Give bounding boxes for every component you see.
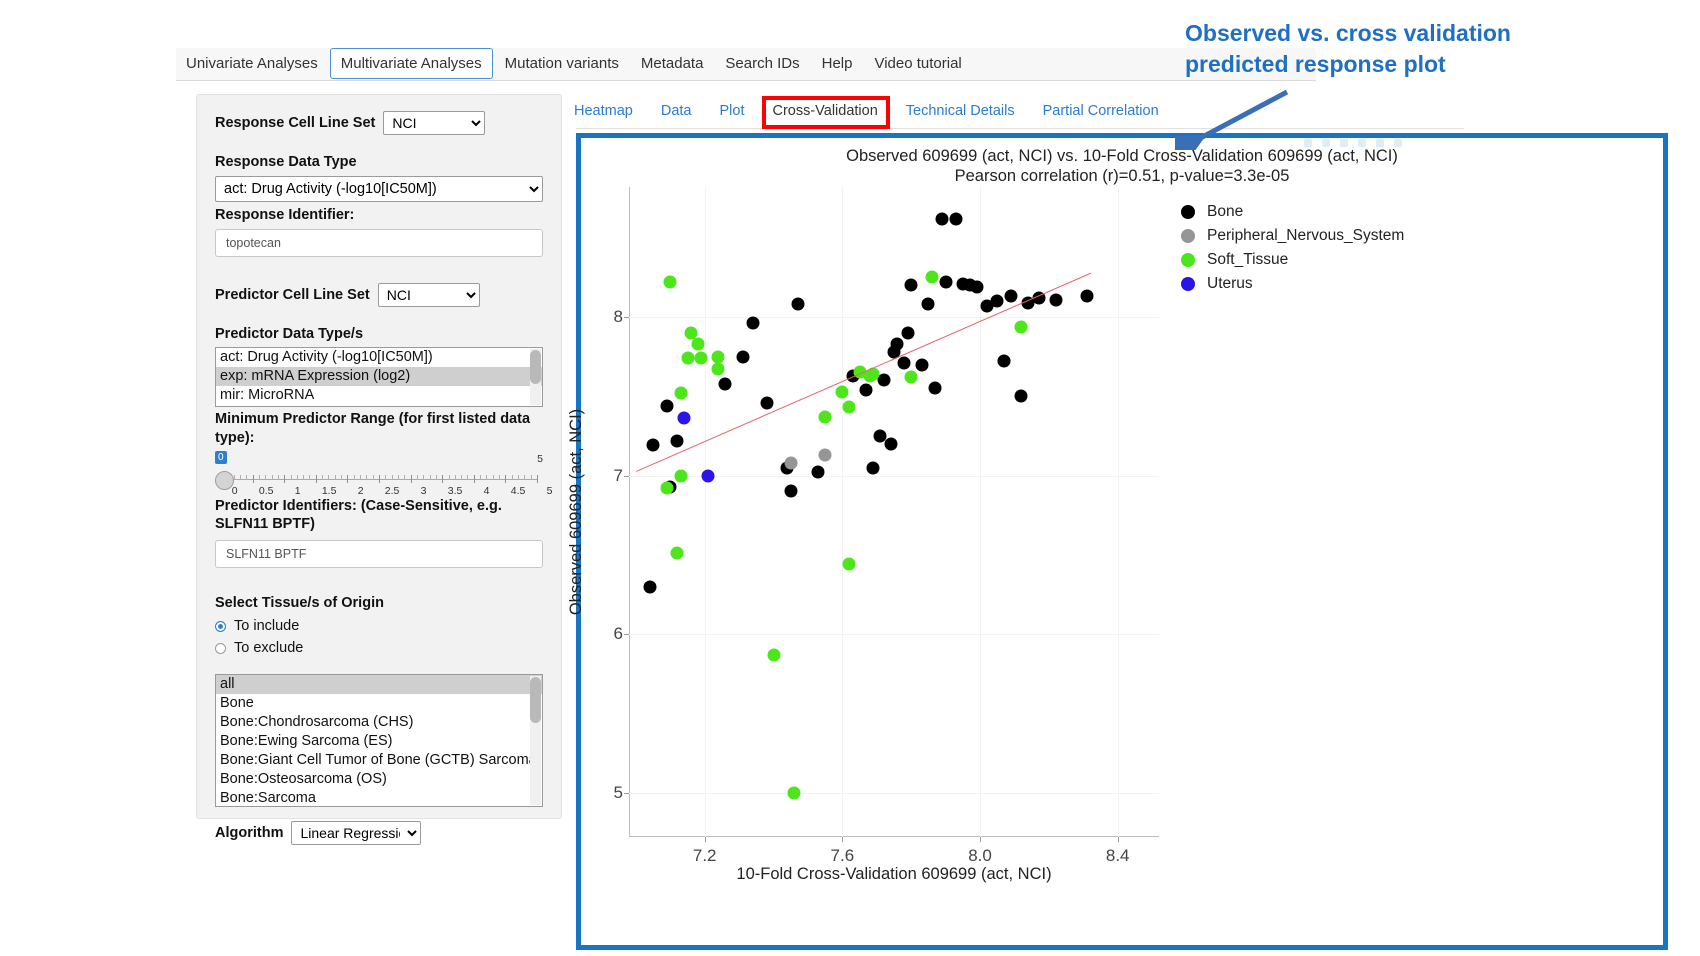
scatter-point-soft_tissue[interactable] <box>905 371 918 384</box>
subtab-plot[interactable]: Plot <box>705 98 758 124</box>
scatter-point-soft_tissue[interactable] <box>836 385 849 398</box>
legend-marker-icon <box>1181 277 1195 291</box>
x-axis-tick-label: 7.6 <box>831 846 855 866</box>
scatter-point-soft_tissue[interactable] <box>925 271 938 284</box>
x-axis-tick-mark <box>980 837 981 842</box>
scatter-point-bone[interactable] <box>719 377 732 390</box>
nav-item-mutation-variants[interactable]: Mutation variants <box>495 49 629 78</box>
scatter-point-uterus[interactable] <box>702 469 715 482</box>
y-axis-tick-label: 5 <box>614 783 623 803</box>
slider-tick-label: 2 <box>358 485 364 497</box>
algorithm-select[interactable]: Linear Regression <box>291 821 421 845</box>
y-axis-tick-mark <box>624 476 629 477</box>
nav-item-help[interactable]: Help <box>812 49 863 78</box>
y-axis-label: Observed 609699 (act, NCI) <box>567 409 586 615</box>
y-axis-tick-mark <box>624 793 629 794</box>
scatter-point-bone[interactable] <box>901 326 914 339</box>
x-axis-tick-mark <box>1118 837 1119 842</box>
y-axis-tick-mark <box>624 634 629 635</box>
plot-title-line1: Observed 609699 (act, NCI) vs. 10-Fold C… <box>581 146 1663 166</box>
slider-value-bubble: 0 <box>215 451 227 464</box>
scatter-point-bone[interactable] <box>1049 293 1062 306</box>
scatter-point-soft_tissue[interactable] <box>1015 320 1028 333</box>
slider-tick-label: 4 <box>484 485 490 497</box>
scatter-point-bone[interactable] <box>791 298 804 311</box>
x-axis-label: 10-Fold Cross-Validation 609699 (act, NC… <box>629 865 1159 884</box>
slider-tick-label: 5 <box>547 485 553 497</box>
y-axis-tick-label: 7 <box>614 466 623 486</box>
legend-marker-icon <box>1181 253 1195 267</box>
scatter-point-bone[interactable] <box>860 383 873 396</box>
tissue-option[interactable]: Bone:Giant Cell Tumor of Bone (GCTB) Sar… <box>216 751 542 770</box>
min-predictor-range-label: Minimum Predictor Range (for first liste… <box>215 410 543 446</box>
slider-tick-label: 0 <box>232 485 238 497</box>
scatter-point-bone[interactable] <box>812 466 825 479</box>
tissue-scroll-thumb[interactable] <box>530 677 541 723</box>
scatter-point-soft_tissue[interactable] <box>691 337 704 350</box>
scatter-point-peripheral_nervous_system[interactable] <box>784 456 797 469</box>
predictor-data-type-option[interactable]: exp: mRNA Expression (log2) <box>216 367 542 386</box>
scatter-point-bone[interactable] <box>998 355 1011 368</box>
annotation-arrow-icon <box>1175 88 1295 150</box>
grid-line-vertical <box>1118 187 1119 837</box>
scatter-point-soft_tissue[interactable] <box>681 352 694 365</box>
scatter-point-bone[interactable] <box>736 350 749 363</box>
predictor-data-type-option[interactable]: mth: DNA 850K Methylation <box>216 405 542 407</box>
controls-sidebar: Response Cell Line Set NCI Response Data… <box>196 94 562 819</box>
tissue-option[interactable]: Bone <box>216 694 542 713</box>
predictor-identifiers-input[interactable] <box>215 540 543 568</box>
slider-ticks <box>221 475 537 483</box>
slider-tick-label: 2.5 <box>385 485 400 497</box>
scatter-point-bone[interactable] <box>784 485 797 498</box>
response-data-type-label: Response Data Type <box>215 153 543 171</box>
slider-tick-label: 1.5 <box>322 485 337 497</box>
slider-max-label: 5 <box>537 453 543 465</box>
plot-modebar[interactable] <box>1300 136 1420 150</box>
slider-tick-label: 1 <box>295 485 301 497</box>
scatter-point-uterus[interactable] <box>678 412 691 425</box>
response-identifier-label: Response Identifier: <box>215 206 543 224</box>
x-axis-tick-label: 7.2 <box>693 846 717 866</box>
scatter-point-bone[interactable] <box>936 212 949 225</box>
scatter-point-bone[interactable] <box>867 461 880 474</box>
scatter-point-bone[interactable] <box>647 439 660 452</box>
min-predictor-range-slider[interactable]: 0 5 00.511.522.533.544.55 <box>215 451 543 497</box>
legend-label: Peripheral_Nervous_System <box>1207 227 1404 245</box>
scatter-point-soft_tissue[interactable] <box>767 648 780 661</box>
cross-validation-plot-panel: Observed 609699 (act, NCI) vs. 10-Fold C… <box>576 133 1668 950</box>
tissue-option[interactable]: all <box>216 675 542 694</box>
predictor-cell-line-set-label: Predictor Cell Line Set <box>215 286 370 304</box>
predictor-cell-line-set-row: Predictor Cell Line Set NCI <box>215 283 543 307</box>
y-axis-tick-label: 6 <box>614 624 623 644</box>
plot-legend: BonePeripheral_Nervous_SystemSoft_Tissue… <box>1181 200 1404 296</box>
legend-marker-icon <box>1181 205 1195 219</box>
legend-item[interactable]: Bone <box>1181 200 1404 224</box>
radio-exclude-icon[interactable] <box>215 643 226 654</box>
plot-title: Observed 609699 (act, NCI) vs. 10-Fold C… <box>581 146 1663 186</box>
x-axis-tick-mark <box>842 837 843 842</box>
algorithm-label: Algorithm <box>215 824 283 842</box>
scatter-point-bone[interactable] <box>929 382 942 395</box>
legend-item[interactable]: Soft_Tissue <box>1181 248 1404 272</box>
plot-title-line2: Pearson correlation (r)=0.51, p-value=3.… <box>581 166 1663 186</box>
tissue-option[interactable]: Bone:Chondrosarcoma (CHS) <box>216 713 542 732</box>
nav-item-search-ids[interactable]: Search IDs <box>715 49 809 78</box>
predictor-identifiers-label: Predictor Identifiers: (Case-Sensitive, … <box>215 497 543 533</box>
scatter-point-bone[interactable] <box>660 399 673 412</box>
scatter-point-soft_tissue[interactable] <box>674 469 687 482</box>
scatter-point-bone[interactable] <box>991 295 1004 308</box>
scatter-point-bone[interactable] <box>939 276 952 289</box>
tissue-option[interactable]: Bone:Ewing Sarcoma (ES) <box>216 732 542 751</box>
nav-item-univariate-analyses[interactable]: Univariate Analyses <box>176 49 328 78</box>
scatter-point-soft_tissue[interactable] <box>674 387 687 400</box>
scatter-point-bone[interactable] <box>1015 390 1028 403</box>
predictor-cell-line-set-select[interactable]: NCI <box>378 283 480 307</box>
response-cell-line-set-select[interactable]: NCI <box>383 111 485 135</box>
scatter-point-bone[interactable] <box>760 396 773 409</box>
subtab-technical-details[interactable]: Technical Details <box>892 98 1029 124</box>
predictor-data-types-label: Predictor Data Type/s <box>215 325 543 343</box>
scatter-point-soft_tissue[interactable] <box>660 482 673 495</box>
scatter-point-soft_tissue[interactable] <box>695 352 708 365</box>
grid-line-horizontal <box>629 793 1159 794</box>
tissue-section-label: Select Tissue/s of Origin <box>215 594 543 612</box>
scatter-point-bone[interactable] <box>898 356 911 369</box>
tissue-option[interactable]: Bone:Osteosarcoma (OS) <box>216 770 542 789</box>
slider-tick-label: 3 <box>421 485 427 497</box>
plot-axes: 56787.27.68.08.4 <box>629 187 1159 837</box>
tissue-listbox[interactable]: allBoneBone:Chondrosarcoma (CHS)Bone:Ewi… <box>215 674 543 807</box>
grid-line-vertical <box>705 187 706 837</box>
legend-label: Bone <box>1207 203 1243 221</box>
predictor-data-type-option[interactable]: mir: MicroRNA <box>216 386 542 405</box>
response-cell-line-set-label: Response Cell Line Set <box>215 114 375 132</box>
subtab-heatmap[interactable]: Heatmap <box>560 98 647 124</box>
y-axis-tick-mark <box>624 317 629 318</box>
x-axis-tick-mark <box>705 837 706 842</box>
plot-area <box>629 187 1159 837</box>
scatter-point-soft_tissue[interactable] <box>843 558 856 571</box>
scatter-point-bone[interactable] <box>643 580 656 593</box>
scatter-point-bone[interactable] <box>905 279 918 292</box>
scatter-point-bone[interactable] <box>1005 290 1018 303</box>
predictor-list-scroll-thumb[interactable] <box>530 350 541 384</box>
algorithm-row: Algorithm Linear Regression <box>215 821 543 845</box>
tissue-exclude-label: To exclude <box>234 640 303 656</box>
grid-line-horizontal <box>629 634 1159 635</box>
scatter-point-soft_tissue[interactable] <box>819 410 832 423</box>
grid-line-vertical <box>842 187 843 837</box>
tissue-include-radio-row[interactable]: To include <box>215 618 543 634</box>
legend-marker-icon <box>1181 229 1195 243</box>
scatter-point-bone[interactable] <box>922 298 935 311</box>
scatter-point-bone[interactable] <box>746 317 759 330</box>
response-identifier-input[interactable] <box>215 229 543 257</box>
scatter-point-soft_tissue[interactable] <box>712 350 725 363</box>
subtab-data[interactable]: Data <box>647 98 706 124</box>
tissue-option[interactable]: Bone:Sarcoma <box>216 789 542 807</box>
subtab-cross-validation[interactable]: Cross-Validation <box>758 98 891 124</box>
subtab-divider <box>576 128 1464 129</box>
annotation-text: Observed vs. cross validation predicted … <box>1185 18 1605 79</box>
main-nav: Univariate AnalysesMultivariate Analyses… <box>176 48 1316 81</box>
tissue-include-label: To include <box>234 618 299 634</box>
slider-tick-label: 4.5 <box>511 485 526 497</box>
legend-label: Uterus <box>1207 275 1253 293</box>
y-axis-tick-label: 8 <box>614 307 623 327</box>
result-subtabs: HeatmapDataPlotCross-ValidationTechnical… <box>560 96 1173 126</box>
x-axis-tick-label: 8.0 <box>968 846 992 866</box>
radio-include-icon[interactable] <box>215 621 226 632</box>
slider-tick-label: 0.5 <box>259 485 274 497</box>
scatter-point-bone[interactable] <box>915 358 928 371</box>
tissue-exclude-radio-row[interactable]: To exclude <box>215 640 543 656</box>
scatter-point-soft_tissue[interactable] <box>712 363 725 376</box>
response-data-type-select[interactable]: act: Drug Activity (-log10[IC50M]) <box>215 176 543 202</box>
response-cell-line-set-row: Response Cell Line Set NCI <box>215 111 543 135</box>
legend-item[interactable]: Peripheral_Nervous_System <box>1181 224 1404 248</box>
scatter-point-bone[interactable] <box>949 212 962 225</box>
subtab-partial-correlation[interactable]: Partial Correlation <box>1029 98 1173 124</box>
slider-tick-label: 3.5 <box>448 485 463 497</box>
predictor-data-types-listbox[interactable]: act: Drug Activity (-log10[IC50M])exp: m… <box>215 347 543 407</box>
scatter-point-peripheral_nervous_system[interactable] <box>819 448 832 461</box>
scatter-point-bone[interactable] <box>884 437 897 450</box>
x-axis-tick-label: 8.4 <box>1106 846 1130 866</box>
legend-label: Soft_Tissue <box>1207 251 1288 269</box>
nav-item-multivariate-analyses[interactable]: Multivariate Analyses <box>330 48 493 79</box>
legend-item[interactable]: Uterus <box>1181 272 1404 296</box>
scatter-point-soft_tissue[interactable] <box>788 786 801 799</box>
nav-item-metadata[interactable]: Metadata <box>631 49 714 78</box>
scatter-point-bone[interactable] <box>1080 290 1093 303</box>
scatter-point-bone[interactable] <box>970 280 983 293</box>
scatter-point-soft_tissue[interactable] <box>664 276 677 289</box>
predictor-data-type-option[interactable]: act: Drug Activity (-log10[IC50M]) <box>216 348 542 367</box>
scatter-point-bone[interactable] <box>671 434 684 447</box>
app-root: Univariate AnalysesMultivariate Analyses… <box>0 0 1700 956</box>
slider-tick-labels: 00.511.522.533.544.55 <box>215 485 543 499</box>
scatter-point-soft_tissue[interactable] <box>671 547 684 560</box>
grid-line-horizontal <box>629 317 1159 318</box>
scatter-point-soft_tissue[interactable] <box>843 401 856 414</box>
nav-item-video-tutorial[interactable]: Video tutorial <box>864 49 971 78</box>
